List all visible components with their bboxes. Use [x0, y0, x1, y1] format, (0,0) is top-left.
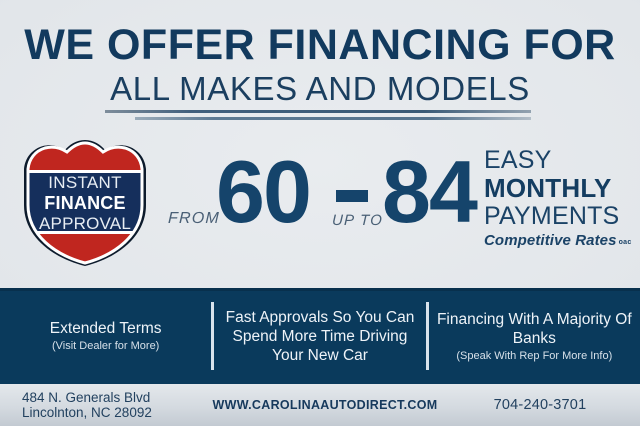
- headline-block: WE OFFER FINANCING FOR ALL MAKES AND MOD…: [0, 22, 640, 108]
- competitive-rates-text: Competitive Rates: [484, 232, 617, 249]
- feature-column-majority-banks: Financing With A Majority Of Banks (Spea…: [429, 310, 640, 363]
- feature-3-title: Financing With A Majority Of Banks: [437, 310, 632, 348]
- headline-secondary: ALL MAKES AND MODELS: [0, 70, 640, 108]
- address-line-1: 484 N. Generals Blvd: [22, 390, 210, 405]
- term-easy: EASY: [484, 147, 640, 174]
- term-min-value: 60: [216, 148, 310, 236]
- instant-finance-approval-badge: [19, 139, 151, 267]
- divider-rule-upper: [105, 110, 531, 113]
- dealer-address: 484 N. Generals Blvd Lincolnton, NC 2809…: [0, 390, 210, 420]
- headline-primary: WE OFFER FINANCING FOR: [0, 22, 640, 68]
- term-payments: PAYMENTS: [484, 203, 640, 230]
- feature-1-subtitle: (Visit Dealer for More): [8, 339, 203, 353]
- address-line-2: Lincolnton, NC 28092: [22, 405, 210, 420]
- range-dash-icon: [336, 190, 368, 202]
- feature-2-title: Fast Approvals So You Can Spend More Tim…: [222, 308, 417, 365]
- badge-navy-field: [19, 173, 151, 231]
- feature-column-fast-approvals: Fast Approvals So You Can Spend More Tim…: [214, 308, 425, 365]
- feature-column-extended-terms: Extended Terms (Visit Dealer for More): [0, 319, 211, 353]
- feature-1-title: Extended Terms: [8, 319, 203, 338]
- from-label: FROM: [168, 210, 221, 228]
- financing-promo-banner: WE OFFER FINANCING FOR ALL MAKES AND MOD…: [0, 0, 640, 426]
- footer-bar: 484 N. Generals Blvd Lincolnton, NC 2809…: [0, 384, 640, 426]
- term-monthly: MONTHLY: [484, 174, 640, 203]
- feature-3-subtitle: (Speak With Rep For More Info): [437, 349, 632, 363]
- feature-columns: Extended Terms (Visit Dealer for More) F…: [0, 288, 640, 384]
- offer-terms-block: FROM 60 UP TO 84 EASY MONTHLY PAYMENTS C…: [168, 138, 640, 268]
- dealer-phone[interactable]: 704-240-3701: [440, 397, 640, 413]
- dealer-website[interactable]: WWW.CAROLINAAUTODIRECT.COM: [210, 398, 440, 412]
- payment-terms-text: EASY MONTHLY PAYMENTS Competitive Rateso…: [484, 147, 640, 249]
- oac-superscript: oac: [619, 239, 632, 246]
- upto-label: UP TO: [332, 212, 384, 229]
- competitive-rates-note: Competitive Ratesoac: [484, 232, 640, 249]
- divider-rule-lower: [135, 117, 531, 120]
- term-max-value: 84: [382, 148, 476, 236]
